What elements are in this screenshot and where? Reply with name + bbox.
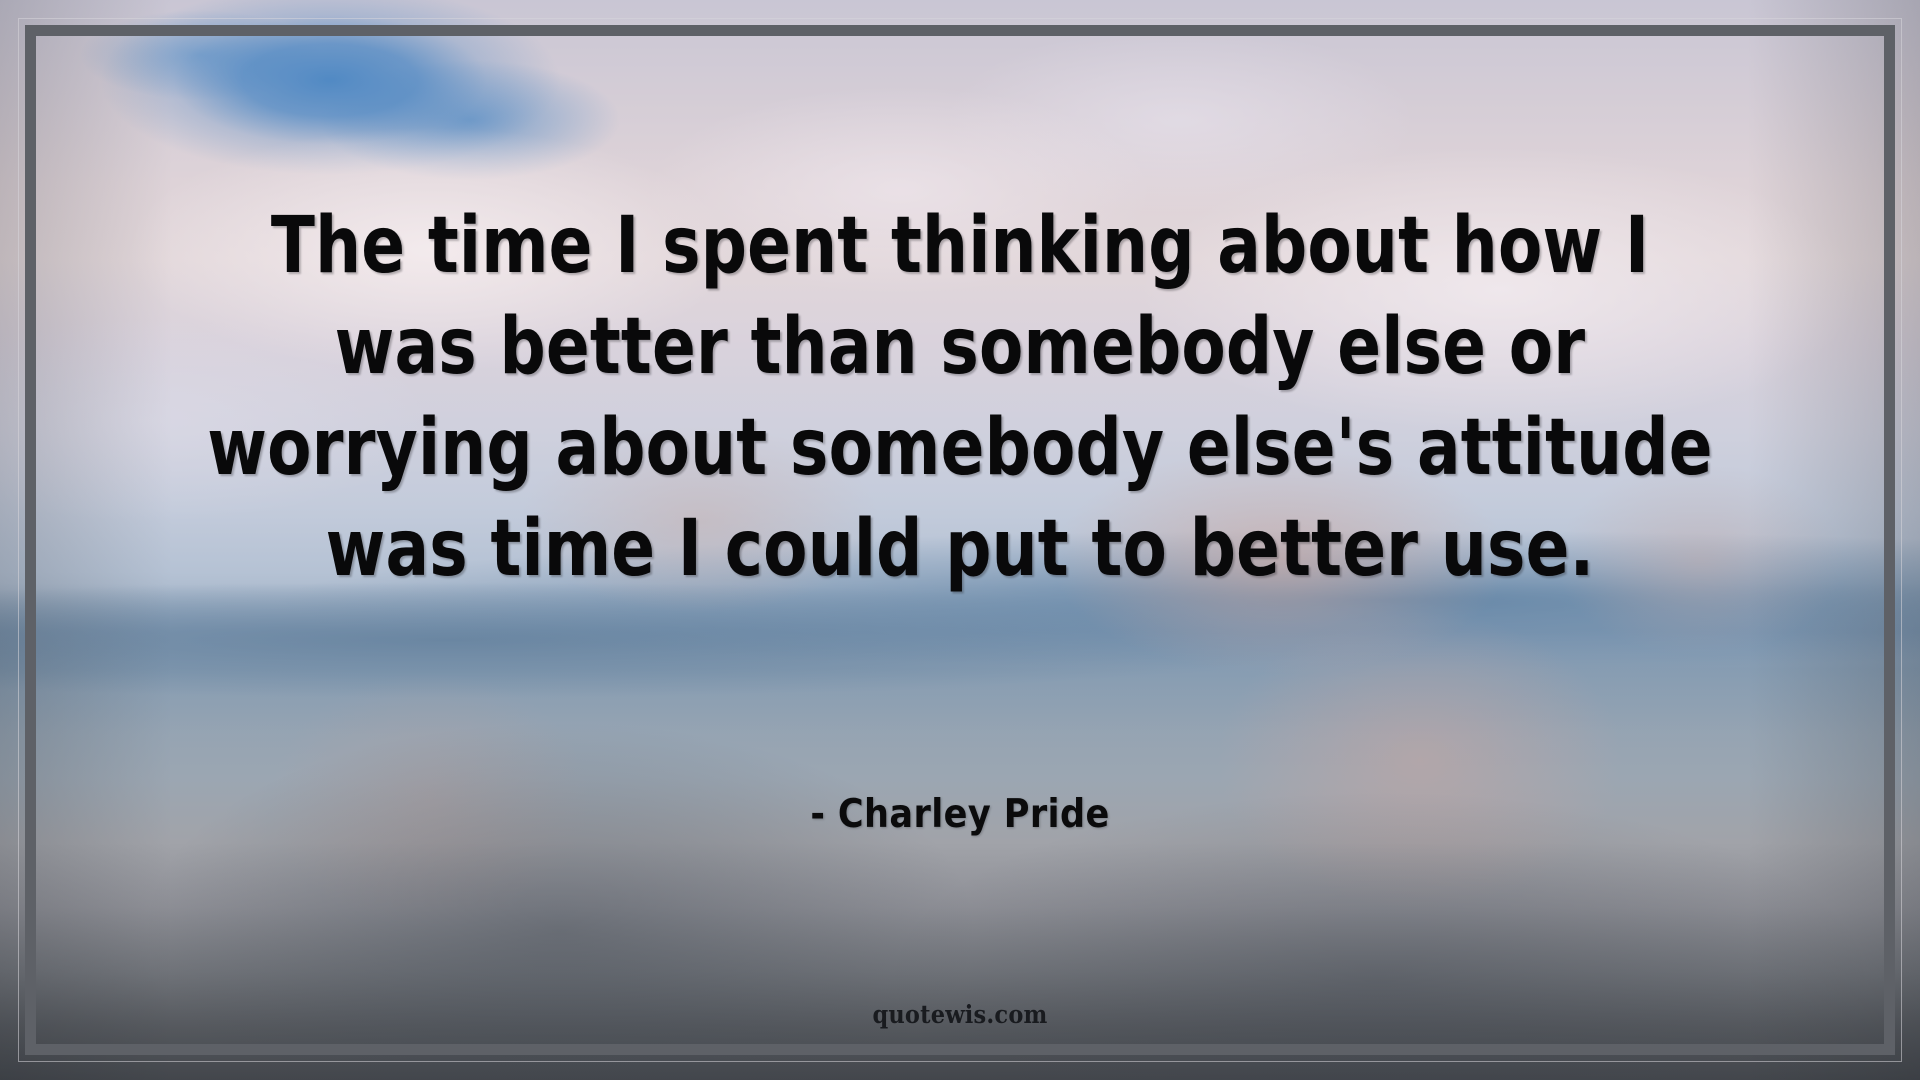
quote-card: The time I spent thinking about how I wa… (0, 0, 1920, 1080)
quote-text: The time I spent thinking about how I wa… (132, 196, 1788, 600)
quote-attribution: - Charley Pride (0, 792, 1920, 837)
quote-content: The time I spent thinking about how I wa… (0, 0, 1920, 1080)
site-watermark: quotewis.com (0, 1000, 1920, 1029)
